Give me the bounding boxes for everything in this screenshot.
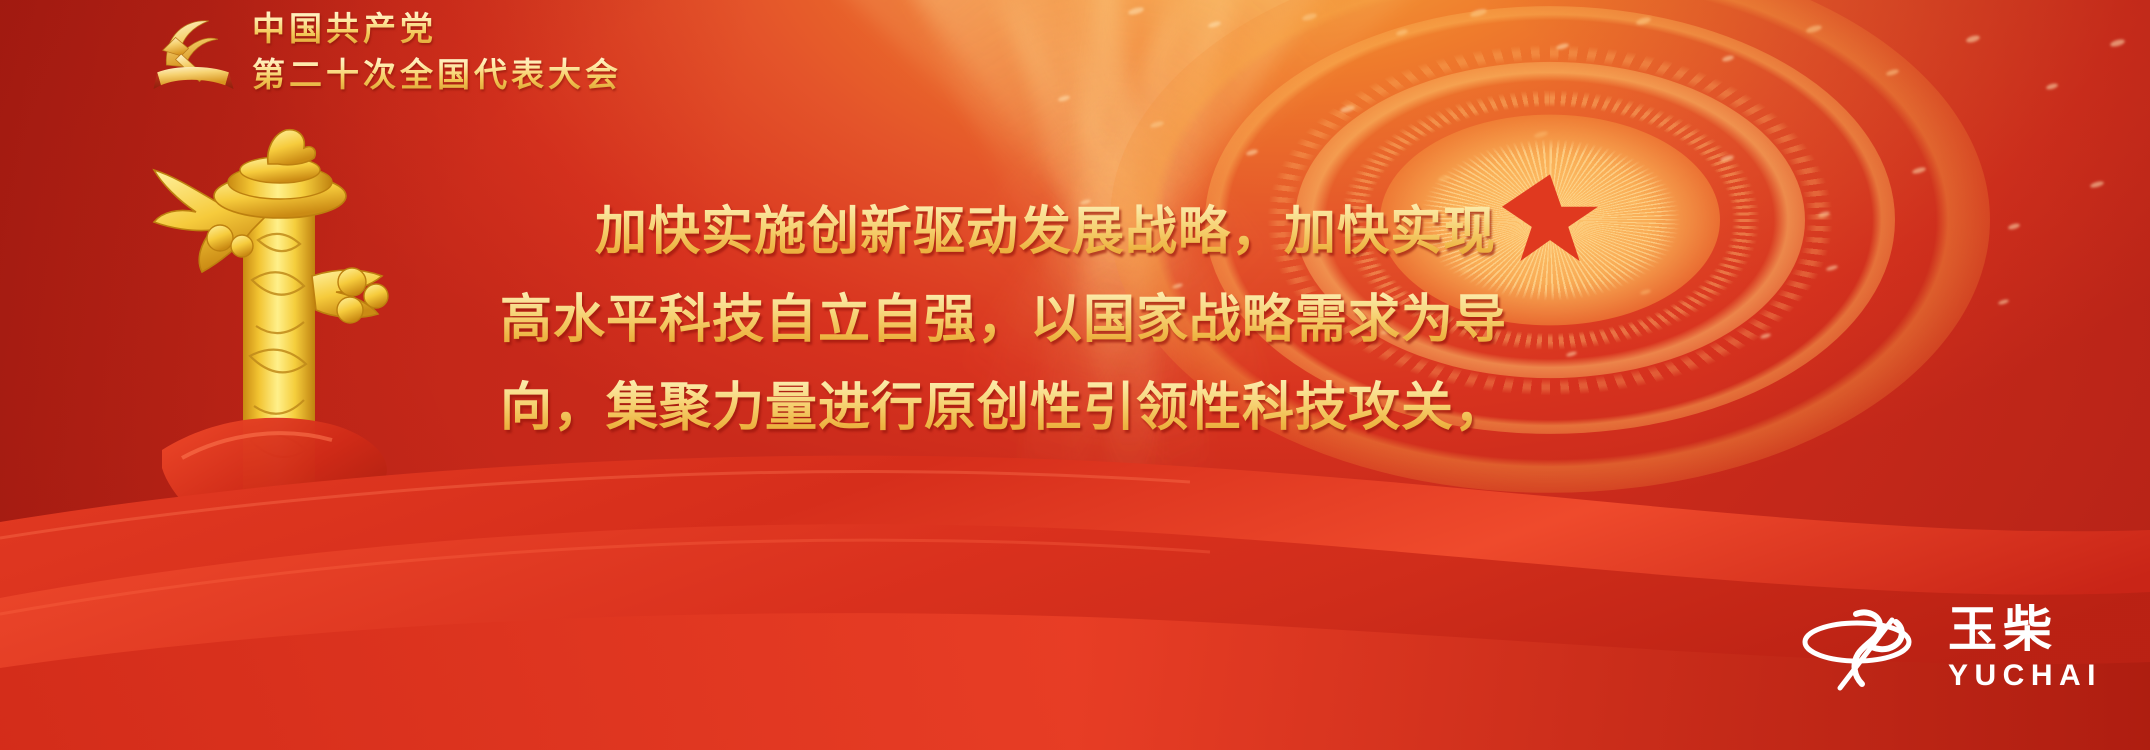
hammer-and-sickle-emblem-icon	[148, 8, 240, 100]
congress-title-line-2: 第二十次全国代表大会	[252, 54, 622, 96]
yuchai-logo: 玉柴 YUCHAI	[1800, 606, 2102, 692]
red-silk-waves	[0, 410, 2150, 750]
party-congress-banner: 中国共产党 第二十次全国代表大会	[0, 0, 2150, 750]
yuchai-english-name: YUCHAI	[1948, 659, 2102, 692]
congress-title-line-1: 中国共产党	[252, 8, 622, 50]
yuchai-chinese-name: 玉柴	[1948, 606, 2058, 656]
yuchai-wordmark: 玉柴 YUCHAI	[1948, 606, 2102, 692]
congress-title-block: 中国共产党 第二十次全国代表大会	[252, 8, 622, 95]
slogan-line-2: 高水平科技自立自强，以国家战略需求为导	[500, 276, 1740, 364]
slogan-line-1: 加快实施创新驱动发展战略，加快实现	[500, 188, 1740, 276]
yuchai-swoosh-mark-icon	[1800, 606, 1926, 692]
